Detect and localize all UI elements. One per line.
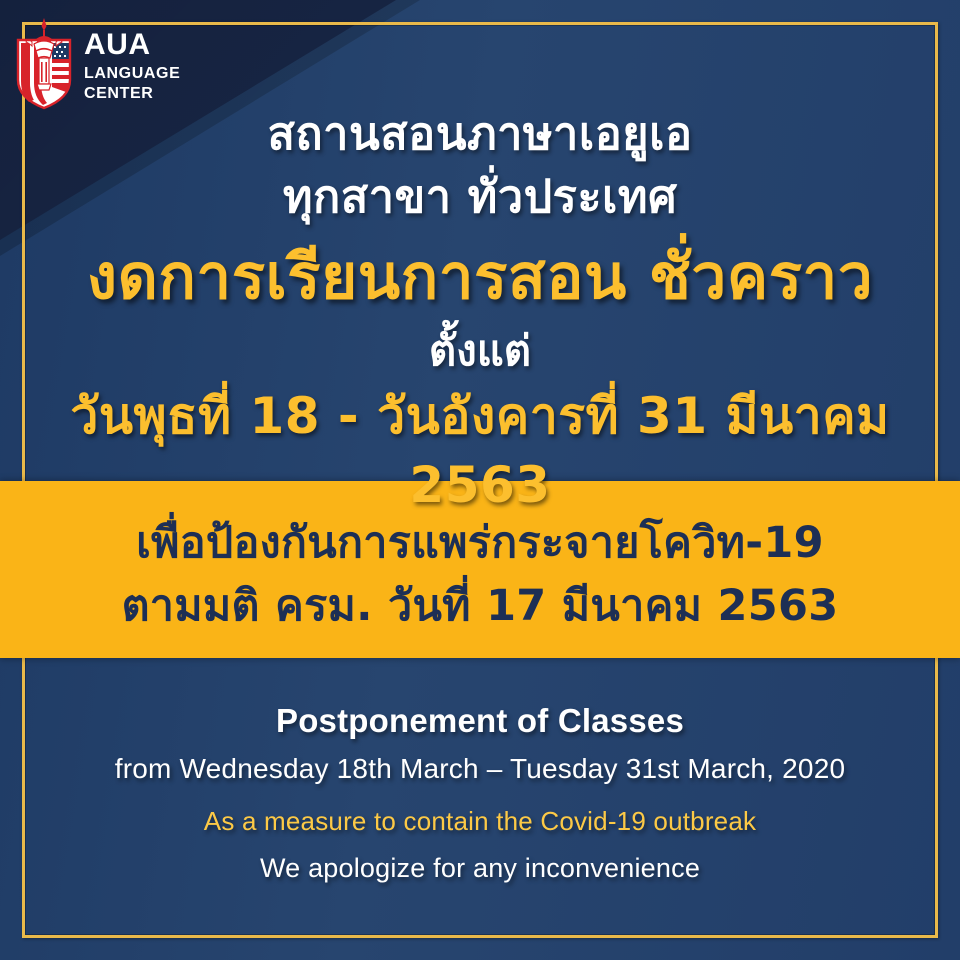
band-resolution-line: ตามมติ ครม. วันที่ 17 มีนาคม 2563 [0,571,960,639]
logo-subtitle-line-1: LANGUAGE [84,64,180,84]
thai-subtitle-line-2: ทุกสาขา ทั่วประเทศ [0,160,960,232]
brand-logo: AUA LANGUAGE CENTER [14,18,180,110]
thai-headline: งดการเรียนการสอน ชั่วคราว [0,228,960,326]
thai-date-range: วันพุธที่ 18 - วันอังคารที่ 31 มีนาคม 25… [0,377,960,514]
aua-shield-logo-icon [14,18,74,110]
announcement-poster: AUA LANGUAGE CENTER สถานสอนภาษาเอยูเอ ทุ… [0,0,960,960]
poster-content: สถานสอนภาษาเอยูเอ ทุกสาขา ทั่วประเทศ งดก… [0,0,960,960]
logo-subtitle: LANGUAGE CENTER [84,64,180,103]
logo-brand-text: AUA [84,30,180,60]
english-date-range: from Wednesday 18th March – Tuesday 31st… [0,753,960,785]
band-reason-line: เพื่อป้องกันการแพร่กระจายโควิท-19 [0,508,960,576]
english-apology-note: We apologize for any inconvenience [0,853,960,884]
logo-wordmark: AUA LANGUAGE CENTER [84,18,180,103]
thai-since-label: ตั้งแต่ [0,318,960,384]
english-title: Postponement of Classes [0,702,960,740]
logo-subtitle-line-2: CENTER [84,84,180,104]
english-measure-note: As a measure to contain the Covid-19 out… [0,806,960,837]
